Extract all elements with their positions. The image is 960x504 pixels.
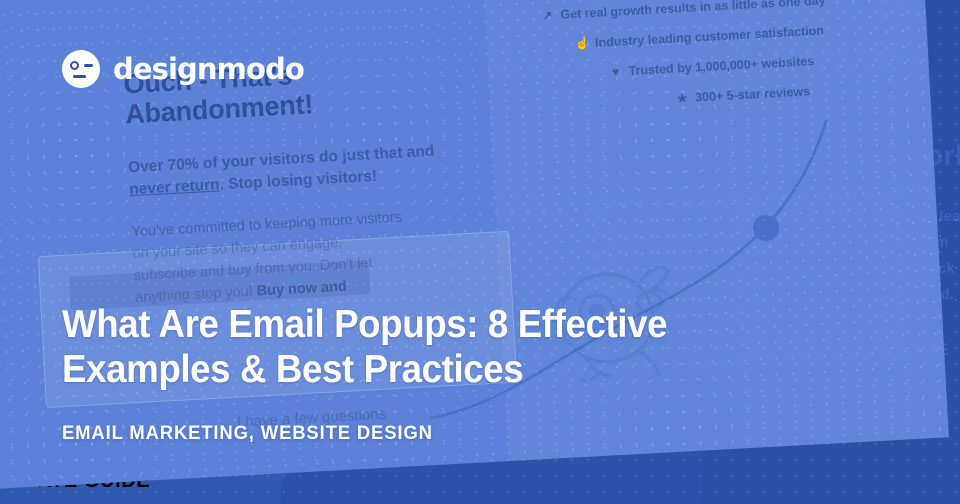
page-title-line-2: Examples & Best Practices [62, 347, 667, 392]
thumbs-up-icon: ☝ [575, 36, 590, 51]
brand-logo[interactable]: designmodo [62, 50, 304, 88]
logo-mouth-icon [73, 75, 86, 78]
page-title-line-1: What Are Email Popups: 8 Effective [62, 302, 667, 347]
heart-icon: ♥ [608, 64, 623, 79]
chart-line-icon: ↗ [540, 8, 555, 23]
logo-dash-icon [84, 64, 93, 67]
page-title: What Are Email Popups: 8 Effective Examp… [62, 302, 667, 392]
curve-data-point [753, 215, 779, 241]
brand-name: designmodo [113, 52, 304, 86]
hero-banner: nster A Pop s to G ed on Novem in ups Wo… [0, 0, 960, 504]
popup-body-underline: never return [129, 176, 220, 198]
star-icon: ★ [675, 91, 690, 106]
designmodo-face-icon [62, 50, 100, 88]
growth-curve-graph [430, 120, 910, 480]
category-subtitle: EMAIL MARKETING, WEBSITE DESIGN [62, 423, 433, 445]
logo-eye-icon [70, 61, 79, 70]
